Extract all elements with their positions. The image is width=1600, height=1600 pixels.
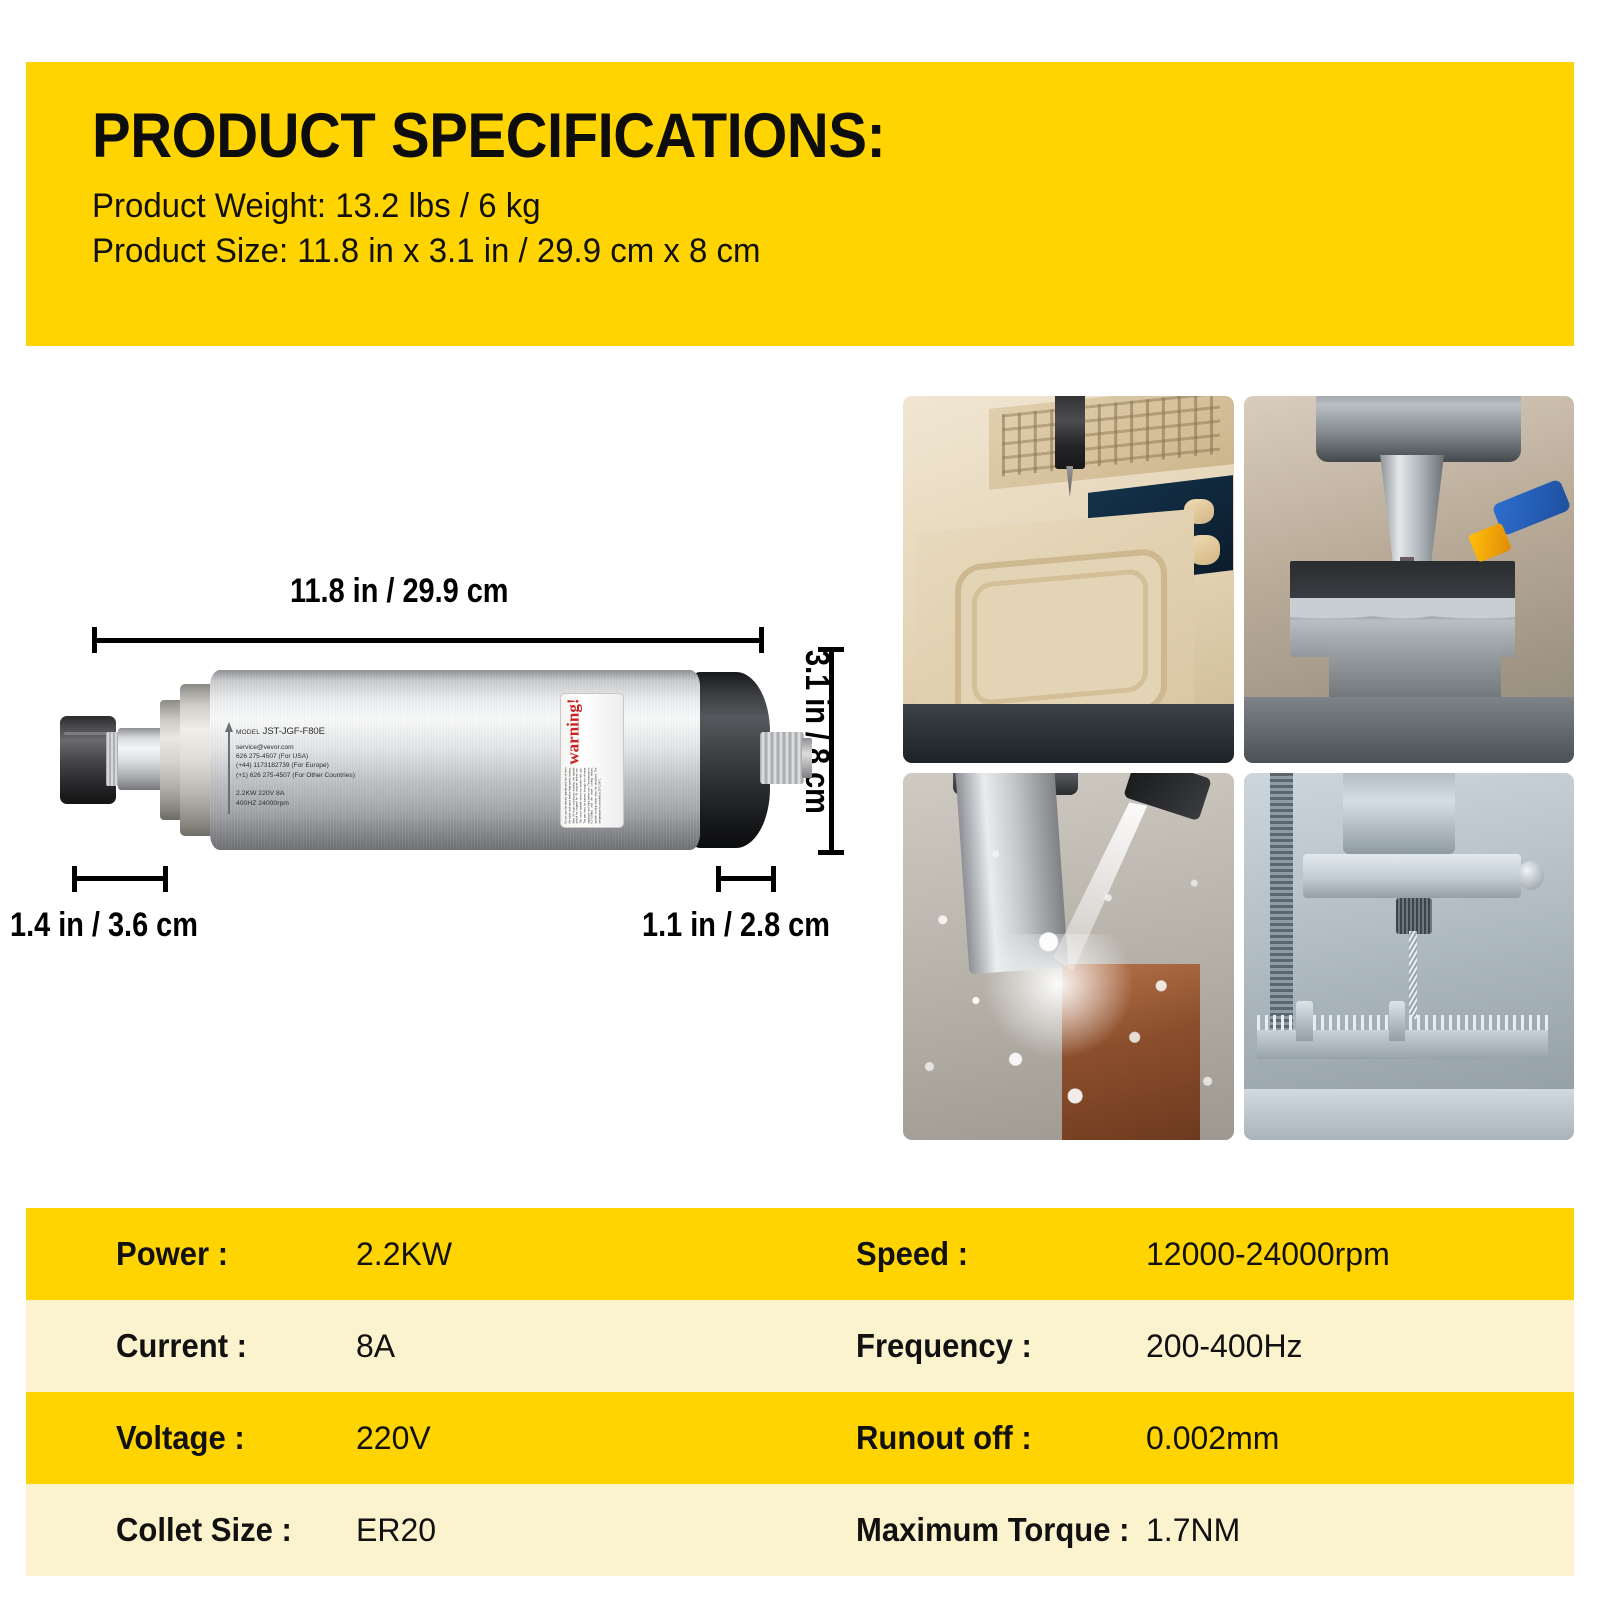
- up-arrow-icon: [222, 722, 236, 814]
- table-row: Collet Size : ER20 Maximum Torque : 1.7N…: [26, 1484, 1574, 1576]
- spindle-rear-cap: [692, 672, 770, 848]
- dimension-cap-left: [72, 866, 77, 892]
- product-weight-line: Product Weight: 13.2 lbs / 6 kg: [92, 184, 1530, 229]
- dimension-bar-length: [92, 627, 764, 653]
- spec-label-frequency: Frequency :: [856, 1327, 1032, 1365]
- spec-value-voltage: 220V: [356, 1420, 431, 1457]
- page-title: PRODUCT SPECIFICATIONS:: [92, 104, 1455, 168]
- dimension-bar-rear-connector: [716, 866, 776, 890]
- spec-label-voltage: Voltage :: [116, 1419, 245, 1457]
- spec-value-collet-size: ER20: [356, 1512, 436, 1549]
- machine-base: [1244, 1089, 1575, 1140]
- milling-head: [1316, 396, 1521, 462]
- spec-value-runout-off: 0.002mm: [1146, 1420, 1279, 1457]
- spec-value-frequency: 200-400Hz: [1146, 1328, 1303, 1365]
- warning-heading: warning!: [564, 698, 581, 764]
- tool-holder: [1376, 455, 1449, 565]
- drill-head: [1343, 773, 1455, 854]
- table-row: Current : 8A Frequency : 200-400Hz: [26, 1300, 1574, 1392]
- spindle-motor-image: MODEL JST-JGF-F80E service@vevor.com 626…: [60, 660, 820, 860]
- spec-value-speed: 12000-24000rpm: [1146, 1236, 1390, 1273]
- dimension-cap-right: [163, 866, 168, 892]
- spec-value-current: 8A: [356, 1328, 395, 1365]
- pcb-clamp: [1296, 1001, 1313, 1041]
- spec-value-power: 2.2KW: [356, 1236, 452, 1273]
- table-row: Voltage : 220V Runout off : 0.002mm: [26, 1392, 1574, 1484]
- product-size-line: Product Size: 11.8 in x 3.1 in / 29.9 cm…: [92, 229, 1530, 274]
- dimension-cap-left: [92, 627, 97, 653]
- vise-jaw: [1329, 646, 1501, 705]
- product-specifications-banner: PRODUCT SPECIFICATIONS: Product Weight: …: [26, 62, 1574, 346]
- specifications-table: Power : 2.2KW Speed : 12000-24000rpm Cur…: [26, 1208, 1574, 1576]
- application-photo-grid: [903, 396, 1574, 1140]
- mounting-flange: [1303, 854, 1521, 898]
- warning-sticker: warning! Do not use the electric spindle…: [560, 693, 624, 828]
- flange-bolt: [1518, 861, 1544, 890]
- dimension-label-rear-connector: 1.1 in / 2.8 cm: [642, 906, 830, 945]
- machined-wave-profile: [1290, 598, 1515, 635]
- cable-connector: [760, 732, 804, 784]
- spec-label-power: Power :: [116, 1235, 228, 1273]
- dimension-cap-bottom: [818, 850, 844, 855]
- spec-label-current: Current :: [116, 1327, 247, 1365]
- dimension-bar-collet-nut: [72, 866, 168, 890]
- warning-body-text: Do not use the electric spindle until th…: [564, 767, 602, 823]
- dimension-cap-right: [759, 627, 764, 653]
- drill-bit: [1409, 931, 1417, 1019]
- router-bit: [1055, 396, 1085, 469]
- spec-label-speed: Speed :: [856, 1235, 968, 1273]
- photo-pcb-drilling: [1244, 773, 1575, 1140]
- spec-value-maximum-torque: 1.7NM: [1146, 1512, 1240, 1549]
- pcb-clamp: [1389, 1001, 1406, 1041]
- machine-bed: [903, 704, 1234, 763]
- dimension-cap-left: [716, 866, 721, 892]
- routed-inner-groove: [972, 567, 1149, 706]
- photo-wet-machining-coolant: [903, 773, 1234, 1140]
- machine-table: [1244, 697, 1575, 763]
- spec-label-runout-off: Runout off :: [856, 1419, 1032, 1457]
- dimension-cap-right: [771, 866, 776, 892]
- spec-label-collet-size: Collet Size :: [116, 1511, 292, 1549]
- spindle-body: [210, 670, 700, 850]
- product-dimension-diagram: 11.8 in / 29.9 cm 3.1 in / 8 cm 1.4 in /…: [0, 350, 890, 1180]
- coolant-splash-droplets: [903, 773, 1234, 1140]
- guide-column: [1270, 773, 1293, 1037]
- photo-cnc-wood-routing: [903, 396, 1234, 763]
- spec-label-maximum-torque: Maximum Torque :: [856, 1511, 1129, 1549]
- dimension-label-length: 11.8 in / 29.9 cm: [290, 572, 509, 611]
- photo-cnc-metal-milling: [1244, 396, 1575, 763]
- dimension-label-collet-nut: 1.4 in / 3.6 cm: [10, 906, 198, 945]
- table-row: Power : 2.2KW Speed : 12000-24000rpm: [26, 1208, 1574, 1300]
- drill-chuck: [1396, 898, 1432, 935]
